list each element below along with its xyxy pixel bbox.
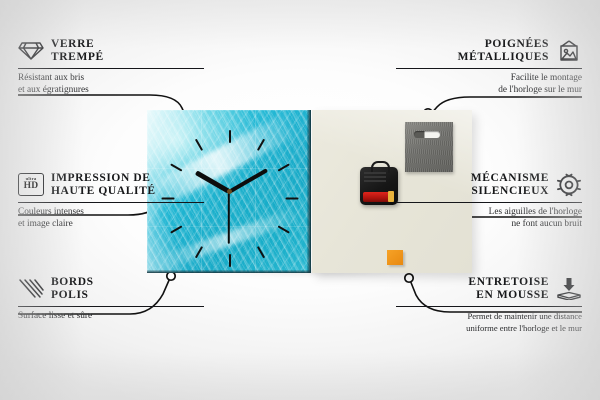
feature-title: ENTRETOISEEN MOUSSE [468, 276, 549, 301]
foam-spacer-arrow-icon [556, 277, 582, 301]
mechanism-vents [364, 172, 386, 184]
feature-divider [18, 68, 204, 69]
feature-mecanisme-silencieux: MÉCANISMESILENCIEUX Les aiguilles de l'h… [396, 172, 582, 230]
feature-divider [18, 202, 204, 203]
hanger-keyhole-slot [414, 131, 440, 138]
feature-divider [396, 306, 582, 307]
diamond-icon [18, 39, 44, 63]
feature-subtitle: Résistant aux briset aux égratignures [18, 73, 204, 96]
ultra-hd-icon: ultra HD [18, 173, 44, 197]
battery-positive-terminal [388, 191, 394, 202]
feature-subtitle: Facilite le montagede l'horloge sur le m… [396, 73, 582, 96]
feature-divider [18, 306, 204, 307]
metal-hanger-plate [405, 122, 453, 172]
feature-title: POIGNÉESMÉTALLIQUES [458, 38, 549, 63]
clock-mechanism-box [360, 167, 398, 205]
glass-edge-right [307, 110, 311, 273]
feature-divider [396, 202, 582, 203]
wall-mount-frame-icon [556, 39, 582, 63]
feature-entretoise-en-mousse: ENTRETOISEEN MOUSSE Permet de maintenir … [396, 276, 582, 334]
feature-poignees-metalliques: POIGNÉESMÉTALLIQUES Facilite le montaged… [396, 38, 582, 96]
feature-subtitle: Surface lisse et sûre [18, 311, 204, 323]
feature-subtitle: Les aiguilles de l'horlogene font aucun … [396, 207, 582, 230]
feature-title: BORDSPOLIS [51, 276, 94, 301]
polished-edges-icon [18, 277, 44, 301]
glass-edge-bottom [147, 270, 311, 273]
battery [363, 192, 393, 202]
clock-hand-second [228, 192, 230, 244]
feature-title: IMPRESSION DEHAUTE QUALITÉ [51, 172, 156, 197]
feature-divider [396, 68, 582, 69]
feature-verre-trempe: VERRETREMPÉ Résistant aux briset aux égr… [18, 38, 204, 96]
feature-bords-polis: BORDSPOLIS Surface lisse et sûre [18, 276, 204, 323]
infographic-canvas: VERRETREMPÉ Résistant aux briset aux égr… [0, 0, 600, 400]
feature-impression-haute-qualite: ultra HD IMPRESSION DEHAUTE QUALITÉ Coul… [18, 172, 204, 230]
clock-center-pin [227, 189, 232, 194]
feature-subtitle: Permet de maintenir une distanceuniforme… [396, 311, 582, 334]
gear-icon [556, 173, 582, 197]
feature-title: MÉCANISMESILENCIEUX [471, 172, 549, 197]
feature-title: VERRETREMPÉ [51, 38, 104, 63]
feature-subtitle: Couleurs intenseset image claire [18, 207, 204, 230]
foam-spacer [387, 250, 403, 265]
